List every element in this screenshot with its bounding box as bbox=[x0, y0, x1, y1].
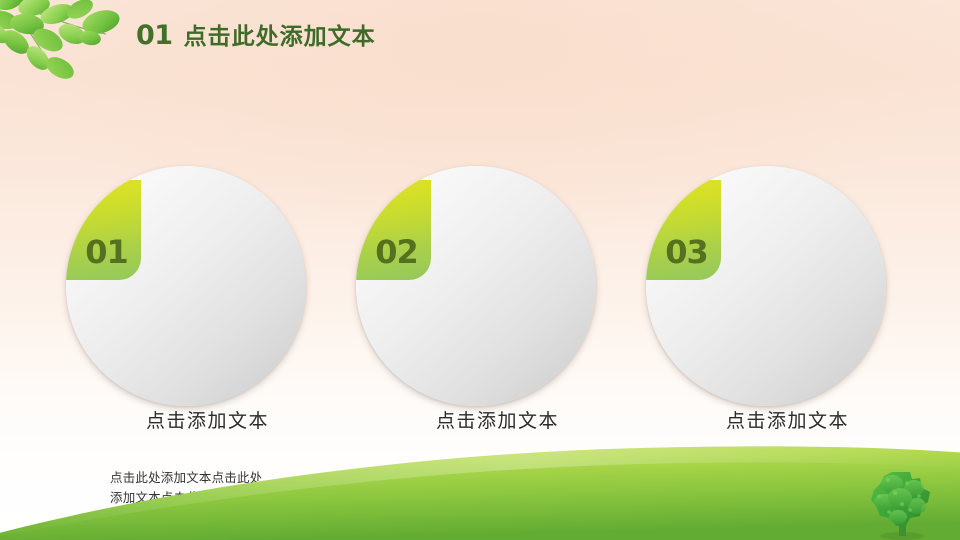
card-1[interactable]: 01 点击添加文本 点击此处添加文本点击此处添加文本点击此处添加文本 bbox=[66, 166, 306, 406]
card-2-number: 02 bbox=[375, 236, 418, 268]
card-1-number-badge: 01 bbox=[66, 180, 141, 280]
card-3-number-badge: 03 bbox=[646, 180, 721, 280]
card-2-number-badge: 02 bbox=[356, 180, 431, 280]
card-1-disc: 01 bbox=[66, 166, 306, 406]
card-3[interactable]: 03 点击添加文本 点击此处添加文本点击此处添加文本点击此处添加文本 bbox=[646, 166, 886, 406]
card-2[interactable]: 02 点击添加文本 点击此处添加文本点击此处添加文本点击此处添加文本 bbox=[356, 166, 596, 406]
slide-canvas: 01 点击此处添加文本 01 点击添加文本 点击此处添加文本点击此处添加文本点击… bbox=[0, 0, 960, 540]
card-3-number: 03 bbox=[665, 236, 708, 268]
card-1-number: 01 bbox=[85, 236, 128, 268]
grass-hill-icon bbox=[0, 420, 960, 540]
tree-icon bbox=[862, 466, 940, 540]
card-3-disc: 03 bbox=[646, 166, 886, 406]
card-2-disc: 02 bbox=[356, 166, 596, 406]
